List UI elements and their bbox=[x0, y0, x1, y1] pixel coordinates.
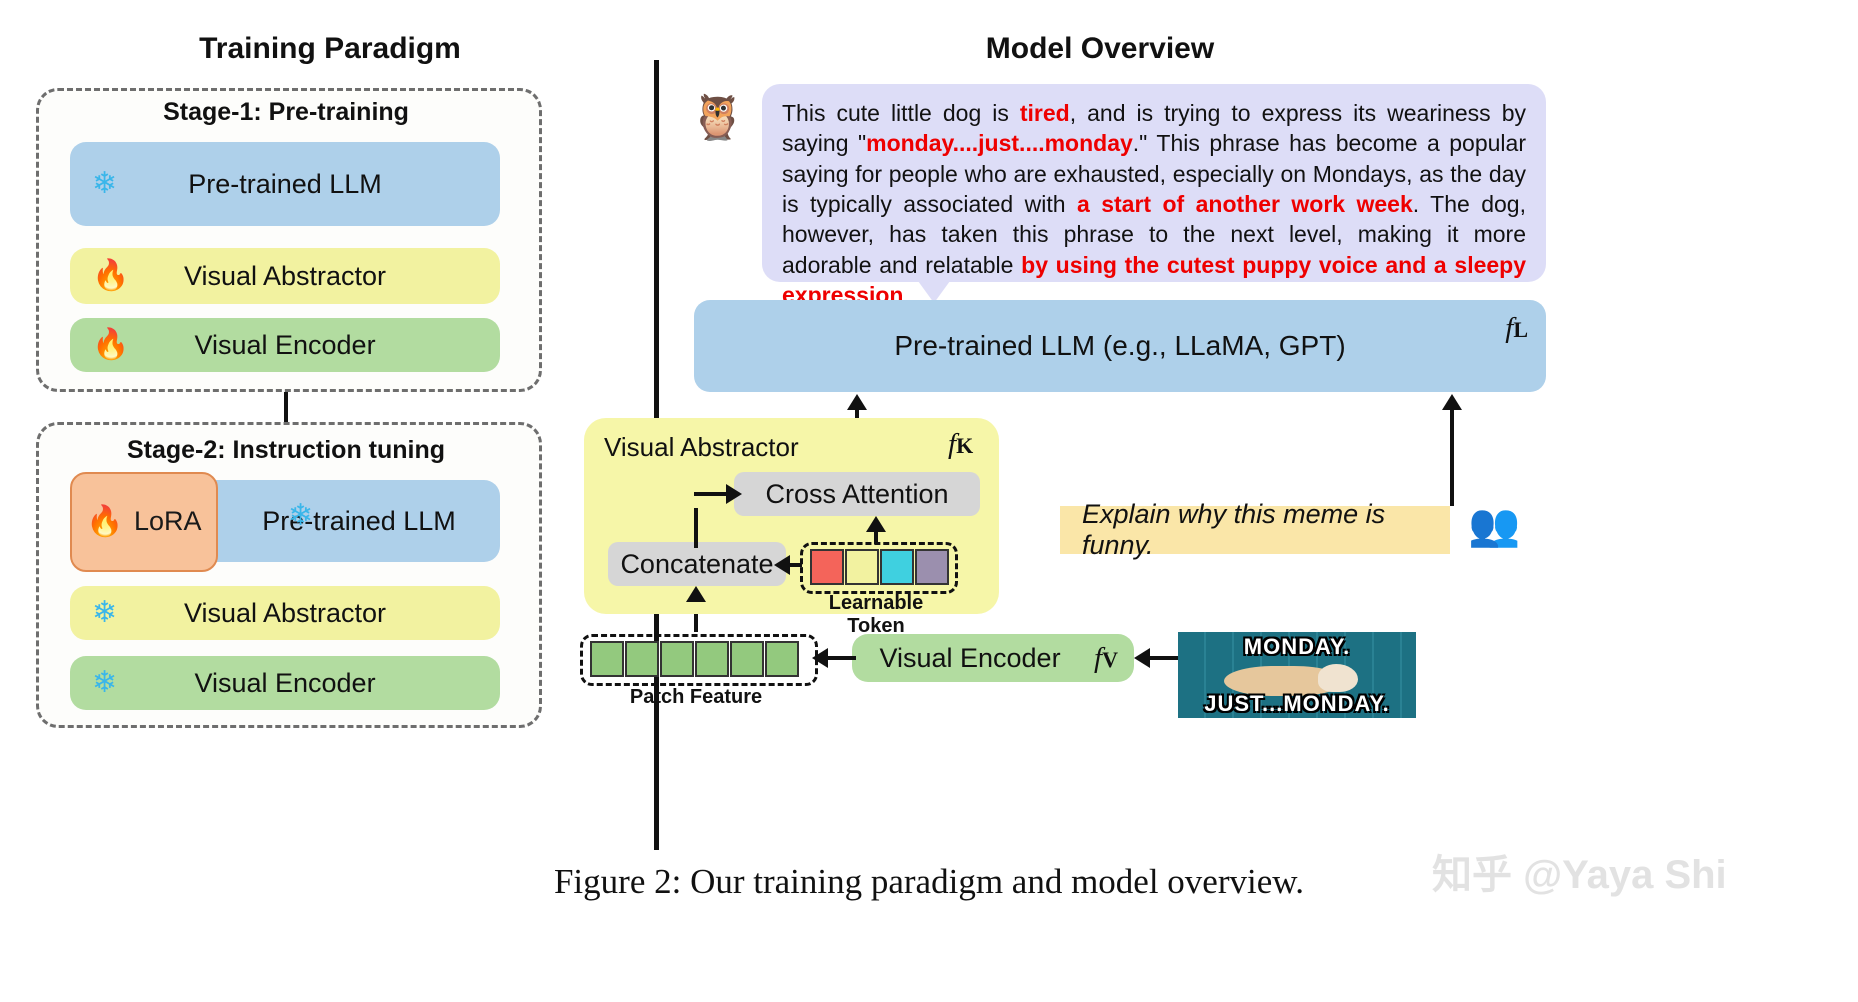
patch-to-concat-line bbox=[694, 614, 698, 632]
learnable-token-2 bbox=[880, 549, 914, 585]
stage1-row-encoder-label: Visual Encoder bbox=[70, 330, 500, 361]
encoder-to-patch-line bbox=[828, 656, 856, 660]
snowflake-icon: ❄ bbox=[92, 169, 117, 199]
flame-icon: 🔥 bbox=[86, 504, 123, 539]
response-highlight: a start of another work week bbox=[1077, 191, 1413, 217]
instruction-to-llm-arrowhead bbox=[1442, 394, 1462, 410]
tokens-to-concat-line bbox=[788, 563, 802, 567]
owl-avatar-icon: 🦉 bbox=[690, 96, 745, 140]
visual-abstractor-title: Visual Abstractor bbox=[604, 432, 799, 463]
abstractor-to-llm-arrowhead bbox=[847, 394, 867, 410]
llm-symbol: fL bbox=[1505, 312, 1528, 345]
snowflake-icon: ❄ bbox=[288, 498, 313, 533]
learnable-token-caption: Learnable Token bbox=[800, 592, 952, 638]
response-highlight: monday....just....monday bbox=[866, 130, 1133, 156]
model-response-bubble: This cute little dog is tired, and is tr… bbox=[762, 84, 1546, 282]
visual-abstractor-symbol: fK bbox=[948, 428, 973, 461]
patch-feature-cell bbox=[625, 641, 659, 677]
meme-bottom-text: JUST...MONDAY. bbox=[1178, 691, 1416, 717]
patch-feature-cell bbox=[730, 641, 764, 677]
patch-feature-cell bbox=[660, 641, 694, 677]
stage2-row-abstractor: ❄ Visual Abstractor bbox=[70, 586, 500, 640]
learnable-token-1 bbox=[845, 549, 879, 585]
visual-encoder-symbol: fV bbox=[1094, 642, 1118, 675]
cross-attention-box: Cross Attention bbox=[734, 472, 980, 516]
concatenate-label: Concatenate bbox=[620, 549, 773, 580]
stage1-row-encoder: 🔥 Visual Encoder bbox=[70, 318, 500, 372]
learnable-token-3 bbox=[915, 549, 949, 585]
meme-dog-head bbox=[1318, 664, 1358, 692]
model-overview-title: Model Overview bbox=[700, 32, 1500, 66]
instruction-box: Explain why this meme is funny. bbox=[1060, 506, 1450, 554]
lora-label: LoRA bbox=[134, 506, 202, 537]
concat-to-crossattn-hline bbox=[694, 492, 728, 496]
meme-image: MONDAY. JUST...MONDAY. bbox=[1178, 632, 1416, 718]
encoder-to-patch-arrowhead bbox=[812, 648, 828, 668]
response-highlight: tired bbox=[1020, 100, 1070, 126]
tokens-to-crossattn-arrowhead bbox=[866, 516, 886, 532]
visual-encoder-label: Visual Encoder bbox=[852, 643, 1134, 674]
patch-feature-cell bbox=[765, 641, 799, 677]
flame-icon: 🔥 bbox=[92, 261, 129, 291]
response-plain: This cute little dog is bbox=[782, 100, 1020, 126]
tokens-to-concat-arrowhead bbox=[774, 555, 790, 575]
watermark: 知乎 @Yaya Shi bbox=[1432, 842, 1727, 900]
meme-to-encoder-arrowhead bbox=[1134, 648, 1150, 668]
stage-1-title: Stage-1: Pre-training bbox=[36, 98, 536, 127]
snowflake-icon: ❄ bbox=[92, 598, 117, 628]
stage2-row-encoder-label: Visual Encoder bbox=[70, 668, 500, 699]
concat-to-crossattn-vline bbox=[694, 508, 698, 548]
users-avatar-icon: 👥 bbox=[1468, 504, 1520, 546]
stage1-row-llm: ❄ Pre-trained LLM bbox=[70, 142, 500, 226]
concat-to-crossattn-arrowhead bbox=[726, 484, 742, 504]
stage1-row-abstractor-label: Visual Abstractor bbox=[70, 261, 500, 292]
instruction-to-llm-line bbox=[1450, 408, 1454, 506]
stage1-row-abstractor: 🔥 Visual Abstractor bbox=[70, 248, 500, 304]
cross-attention-label: Cross Attention bbox=[765, 479, 948, 510]
stage2-row-abstractor-label: Visual Abstractor bbox=[70, 598, 500, 629]
pretrained-llm-label: Pre-trained LLM (e.g., LLaMA, GPT) bbox=[694, 330, 1546, 362]
tokens-to-crossattn-line bbox=[874, 530, 878, 544]
meme-top-text: MONDAY. bbox=[1178, 634, 1416, 660]
snowflake-icon: ❄ bbox=[92, 668, 117, 698]
stage-2-title: Stage-2: Instruction tuning bbox=[36, 436, 536, 465]
learnable-token-0 bbox=[810, 549, 844, 585]
instruction-text: Explain why this meme is funny. bbox=[1082, 499, 1450, 561]
stage2-lora-badge: 🔥 LoRA bbox=[70, 472, 218, 572]
training-paradigm-title: Training Paradigm bbox=[40, 32, 620, 66]
stage2-row-encoder: ❄ Visual Encoder bbox=[70, 656, 500, 710]
patch-feature-caption: Patch Feature bbox=[580, 686, 812, 709]
flame-icon: 🔥 bbox=[92, 330, 129, 360]
pretrained-llm-box: Pre-trained LLM (e.g., LLaMA, GPT) fL bbox=[694, 300, 1546, 392]
model-response-text: This cute little dog is tired, and is tr… bbox=[782, 98, 1526, 311]
patch-feature-cell bbox=[695, 641, 729, 677]
concatenate-box: Concatenate bbox=[608, 542, 786, 586]
meme-to-encoder-line bbox=[1150, 656, 1178, 660]
patch-to-concat-arrowhead bbox=[686, 586, 706, 602]
visual-encoder-box: Visual Encoder fV bbox=[852, 634, 1134, 682]
patch-feature-cell bbox=[590, 641, 624, 677]
stage1-row-llm-label: Pre-trained LLM bbox=[70, 169, 500, 200]
